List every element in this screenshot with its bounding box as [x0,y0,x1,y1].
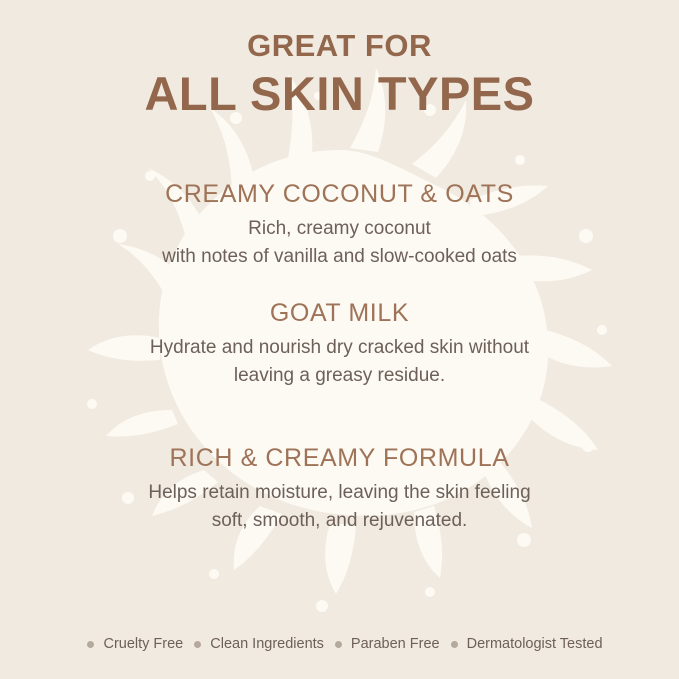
feature-description: Hydrate and nourish dry cracked skin wit… [0,334,679,390]
claim-badge: Paraben Free [324,636,440,652]
feature-section-rich-creamy-formula: RICH & CREAMY FORMULA Helps retain moist… [0,442,679,535]
bullet-dot-icon [335,641,342,648]
feature-description: Rich, creamy coconut with notes of vanil… [0,215,679,271]
feature-section-coconut-oats: CREAMY COCONUT & OATS Rich, creamy cocon… [0,178,679,271]
claim-label: Clean Ingredients [210,636,324,652]
feature-description-line: soft, smooth, and rejuvenated. [0,507,679,535]
claim-label: Cruelty Free [103,636,183,652]
bullet-dot-icon [194,641,201,648]
claim-badge: Cruelty Free [76,636,183,652]
feature-description-line: with notes of vanilla and slow-cooked oa… [0,243,679,271]
feature-description: Helps retain moisture, leaving the skin … [0,479,679,535]
bullet-dot-icon [451,641,458,648]
claim-label: Dermatologist Tested [467,636,603,652]
feature-title: CREAMY COCONUT & OATS [0,178,679,210]
claim-badge: Dermatologist Tested [440,636,603,652]
bullet-dot-icon [87,641,94,648]
product-info-card: GREAT FOR ALL SKIN TYPES CREAMY COCONUT … [0,0,679,679]
feature-description-line: Hydrate and nourish dry cracked skin wit… [0,334,679,362]
claim-label: Paraben Free [351,636,440,652]
headline-line-2: ALL SKIN TYPES [144,66,534,122]
feature-title: GOAT MILK [0,297,679,329]
headline-line-1: GREAT FOR [144,26,534,66]
feature-section-goat-milk: GOAT MILK Hydrate and nourish dry cracke… [0,297,679,390]
page-title: GREAT FOR ALL SKIN TYPES [144,26,534,122]
claim-badge: Clean Ingredients [183,636,324,652]
feature-description-line: leaving a greasy residue. [0,362,679,390]
feature-title: RICH & CREAMY FORMULA [0,442,679,474]
claims-badge-row: Cruelty Free Clean Ingredients Paraben F… [0,636,679,652]
feature-description-line: Rich, creamy coconut [0,215,679,243]
feature-description-line: Helps retain moisture, leaving the skin … [0,479,679,507]
